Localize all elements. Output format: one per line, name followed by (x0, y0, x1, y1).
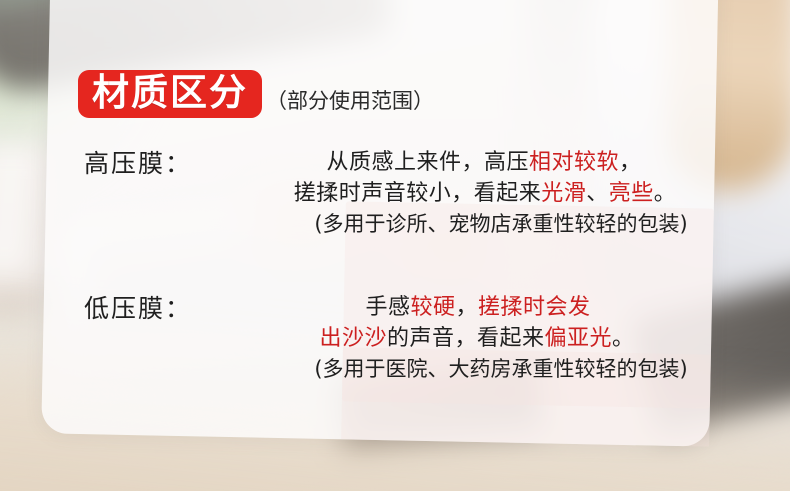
title-row: 材质区分 （部分使用范围） (78, 70, 434, 118)
plain-text: 。 (612, 326, 635, 351)
body-note-line: (多用于诊所、宠物店承重性较轻的包装) (242, 209, 712, 240)
plain-text: (多用于诊所、宠物店承重性较轻的包装) (314, 212, 687, 236)
highlighted-text: 相对较软 (529, 150, 619, 175)
plain-text: 。 (654, 181, 677, 206)
plain-text: 从质感上来件，高压 (326, 150, 529, 175)
body-note-line: (多用于医院、大药房承重性较轻的包装) (242, 354, 712, 385)
card-content: 材质区分 （部分使用范围） 高压膜： 从质感上来件，高压相对较软， 搓揉时声音较… (0, 0, 790, 491)
plain-text: ， (619, 150, 642, 175)
highlighted-text: 偏亚光 (545, 326, 613, 351)
body-line: 从质感上来件，高压相对较软， (242, 147, 712, 178)
section-label-low: 低压膜： (84, 292, 192, 326)
section-body-low: 手感较硬，搓揉时会发 出沙沙的声音，看起来偏亚光。 (多用于医院、大药房承重性较… (242, 292, 712, 385)
highlighted-text: 较硬 (411, 295, 456, 320)
plain-text: (多用于医院、大药房承重性较轻的包装) (314, 357, 687, 381)
highlighted-text: 光滑 (541, 181, 586, 206)
section-body-high: 从质感上来件，高压相对较软， 搓揉时声音较小，看起来光滑、亮些。 (多用于诊所、… (242, 147, 712, 240)
plain-text: 、 (586, 181, 609, 206)
plain-text: 的声音，看起来 (387, 326, 545, 351)
promo-banner: 材质区分 （部分使用范围） 高压膜： 从质感上来件，高压相对较软， 搓揉时声音较… (0, 0, 790, 491)
section-high-pressure-film: 高压膜： 从质感上来件，高压相对较软， 搓揉时声音较小，看起来光滑、亮些。 (多… (84, 147, 712, 240)
plain-text: 搓揉时声音较小，看起来 (294, 181, 542, 206)
section-low-pressure-film: 低压膜： 手感较硬，搓揉时会发 出沙沙的声音，看起来偏亚光。 (多用于医院、大药… (84, 292, 712, 385)
plain-text: ， (456, 295, 479, 320)
highlighted-text: 亮些 (609, 181, 654, 206)
plain-text: 手感 (365, 295, 410, 320)
title-subtitle: （部分使用范围） (266, 91, 434, 118)
highlighted-text: 搓揉时会发 (478, 295, 591, 320)
body-line: 搓揉时声音较小，看起来光滑、亮些。 (242, 178, 712, 209)
body-line: 手感较硬，搓揉时会发 (242, 292, 712, 323)
section-label-high: 高压膜： (84, 147, 192, 181)
highlighted-text: 出沙沙 (319, 326, 387, 351)
title-badge: 材质区分 (78, 70, 262, 118)
body-line: 出沙沙的声音，看起来偏亚光。 (242, 323, 712, 354)
